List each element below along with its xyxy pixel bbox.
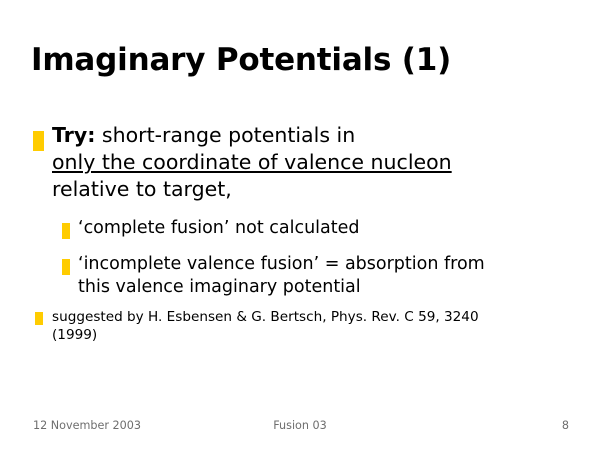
bullet-line: Try: short-range potentials in <box>52 122 586 149</box>
bullet-line: relative to target, <box>52 176 586 203</box>
bullet-item-citation: suggested by H. Esbensen & G. Bertsch, P… <box>0 308 600 344</box>
slide-body: Try: short-range potentials in only the … <box>0 122 600 345</box>
bullet-line-underlined: only the coordinate of valence nucleon <box>52 149 586 176</box>
slide-canvas: Imaginary Potentials (1) Try: short-rang… <box>0 0 600 450</box>
footer-page-number: 8 <box>562 419 569 432</box>
square-bullet-icon <box>62 259 70 275</box>
bullet-item-try: Try: short-range potentials in only the … <box>0 122 600 203</box>
square-bullet-icon <box>33 131 44 151</box>
citation-line: (1999) <box>52 326 586 344</box>
sub-bullet-item-complete-fusion: ‘complete fusion’ not calculated <box>0 217 600 240</box>
bullet-text: short-range potentials in <box>95 123 355 147</box>
sub-bullet-line: ‘incomplete valence fusion’ = absorption… <box>78 253 586 276</box>
sub-bullet-text: ‘complete fusion’ not calculated <box>78 217 586 240</box>
citation-line: suggested by H. Esbensen & G. Bertsch, P… <box>52 308 586 326</box>
footer-event-name: Fusion 03 <box>0 419 600 432</box>
bullet-lead-label: Try: <box>52 123 95 147</box>
sub-bullet-item-incomplete-valence-fusion: ‘incomplete valence fusion’ = absorption… <box>0 253 600 299</box>
page-title: Imaginary Potentials (1) <box>31 44 571 77</box>
slide-footer: 12 November 2003 Fusion 03 8 <box>0 419 600 437</box>
underlined-phrase: only the coordinate of valence nucleon <box>52 150 452 174</box>
sub-bullet-line: this valence imaginary potential <box>78 276 586 299</box>
square-bullet-icon <box>62 223 70 239</box>
square-bullet-icon <box>35 312 43 325</box>
